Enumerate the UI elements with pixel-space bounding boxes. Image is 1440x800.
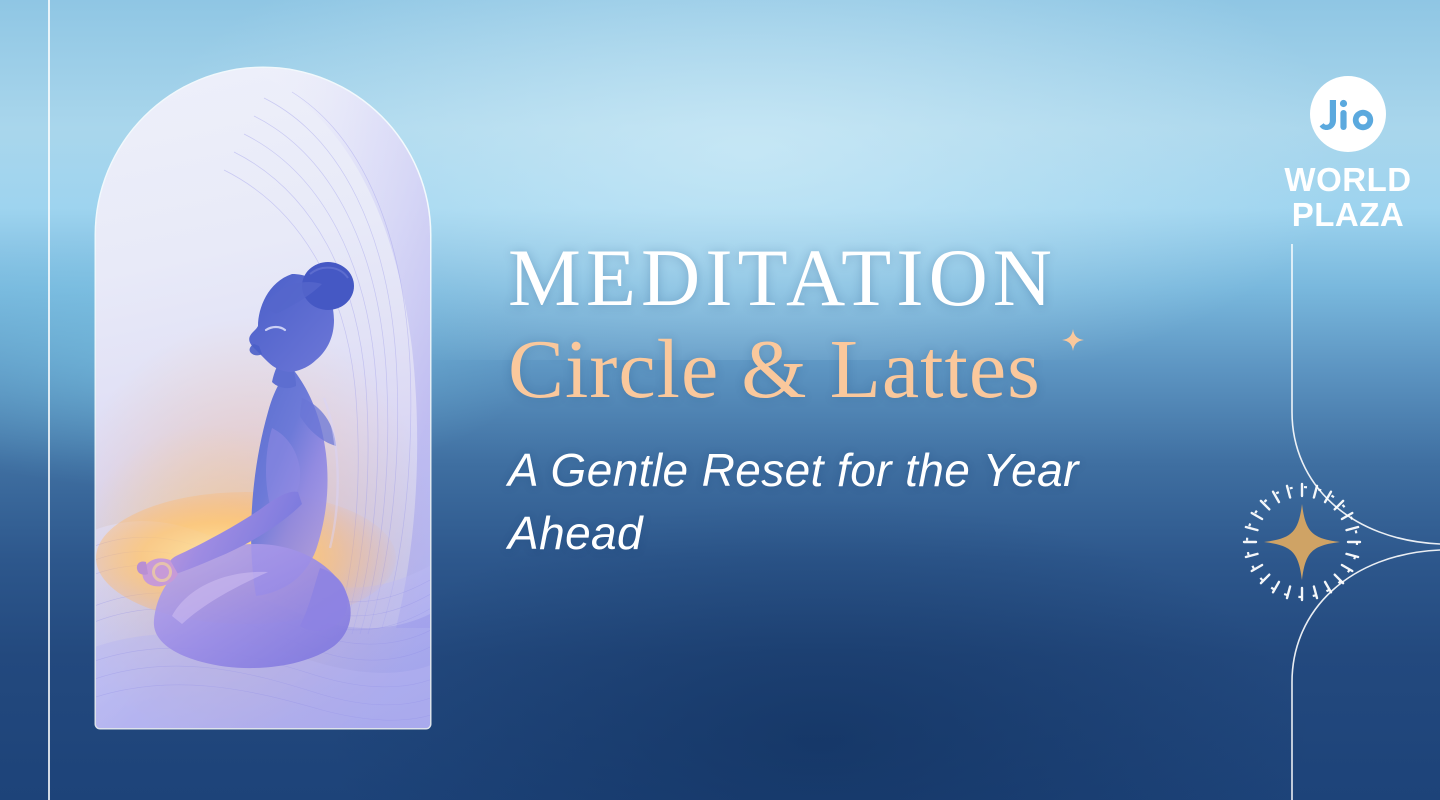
left-vertical-rule xyxy=(48,0,50,800)
jio-world-plaza-logo: WORLD PLAZA xyxy=(1272,76,1424,233)
meditating-figure xyxy=(96,68,430,728)
four-point-star-icon xyxy=(1062,282,1084,304)
starburst-medallion xyxy=(1232,472,1372,612)
event-tagline: A Gentle Reset for the Year Ahead xyxy=(508,439,1108,566)
meditation-event-banner: MEDITATION Circle & Lattes A Gentle Rese… xyxy=(0,0,1440,800)
four-point-star-icon xyxy=(1264,504,1340,580)
jio-logo-icon xyxy=(1310,76,1386,152)
event-subtitle: Circle & Lattes xyxy=(508,326,1208,413)
logo-word-line2: PLAZA xyxy=(1272,197,1424,232)
artwork-arch-frame xyxy=(96,68,430,728)
headline-block: MEDITATION Circle & Lattes A Gentle Rese… xyxy=(508,236,1208,566)
logo-word-line1: WORLD xyxy=(1272,162,1424,197)
event-title: MEDITATION xyxy=(508,236,1208,320)
event-title-text: MEDITATION xyxy=(508,232,1057,323)
logo-wordmark: WORLD PLAZA xyxy=(1272,162,1424,233)
